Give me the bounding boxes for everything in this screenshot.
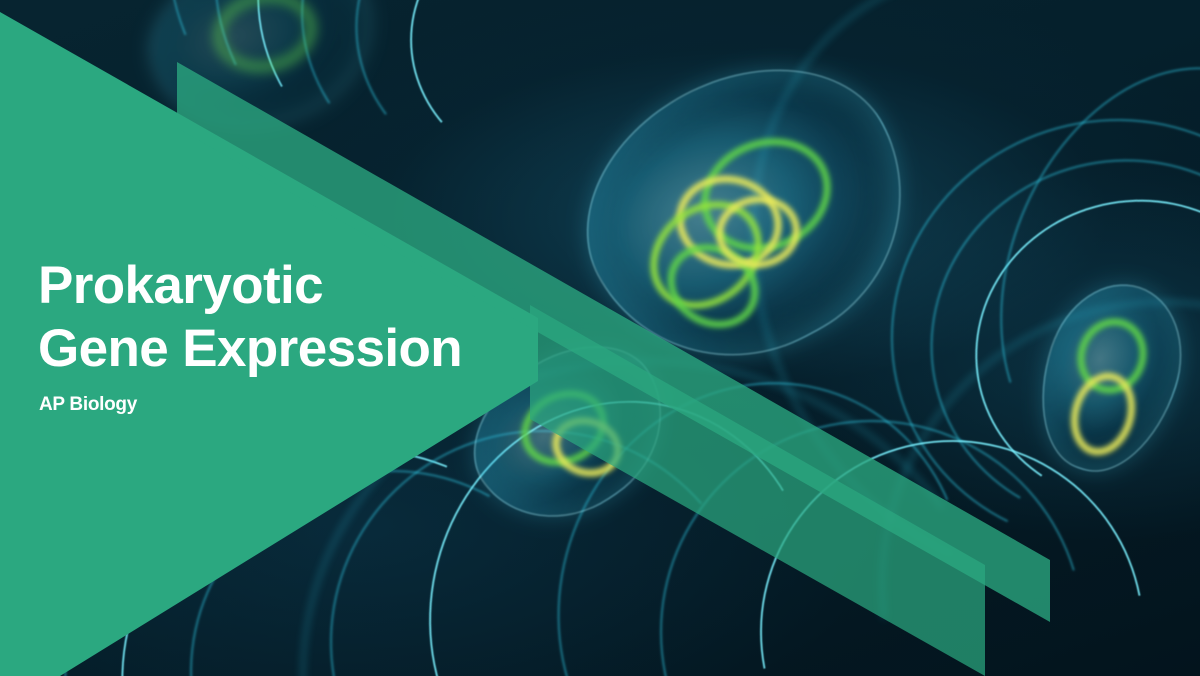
title-line-2: Gene Expression [38, 318, 558, 381]
page-title: Prokaryotic Gene Expression [38, 255, 558, 380]
subtitle: AP Biology [39, 394, 558, 416]
title-text-block: Prokaryotic Gene Expression AP Biology [38, 255, 558, 416]
title-line-1: Prokaryotic [38, 255, 558, 318]
title-slide: Prokaryotic Gene Expression AP Biology [0, 0, 1200, 676]
